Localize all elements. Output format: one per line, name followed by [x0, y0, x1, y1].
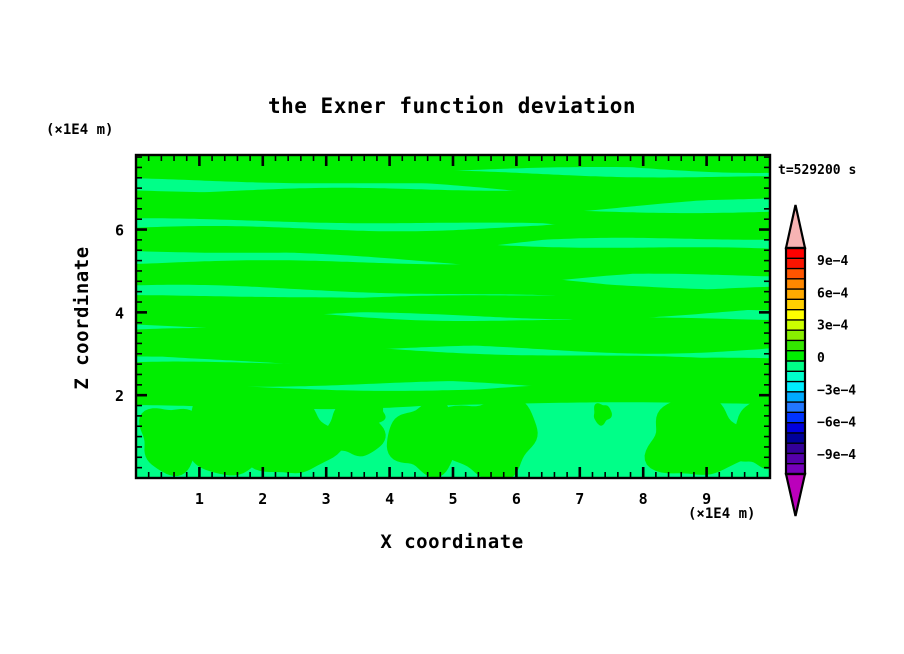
colorbar-band [786, 310, 805, 321]
colorbar-tick-label: 6e−4 [817, 286, 848, 301]
colorbar-band [786, 453, 805, 464]
x-tick-label: 4 [385, 490, 394, 508]
timestamp-label: t=529200 s [778, 163, 856, 178]
plot-area [136, 146, 791, 483]
colorbar-band [786, 330, 805, 341]
y-tick-label: 4 [115, 304, 124, 322]
x-tick-label: 1 [195, 490, 204, 508]
colorbar-band [786, 340, 805, 351]
colorbar-tick-label: 3e−4 [817, 319, 848, 334]
x-tick-label: 8 [639, 490, 648, 508]
colorbar-band [786, 433, 805, 444]
field-contour-bands [136, 146, 791, 483]
colorbar-band [786, 289, 805, 300]
x-tick-label: 2 [258, 490, 267, 508]
colorbar-band [786, 371, 805, 382]
colorbar-band [786, 443, 805, 454]
colorbar-band [786, 258, 805, 269]
x-tick-label: 7 [575, 490, 584, 508]
colorbar-bands [786, 248, 805, 475]
colorbar-band [786, 361, 805, 372]
colorbar-tick-label: 0 [817, 351, 825, 366]
x-tick-label: 5 [448, 490, 457, 508]
colorbar-band [786, 392, 805, 403]
x-axis-unit-label: (×1E4 m) [688, 506, 755, 522]
x-tick-label: 3 [322, 490, 331, 508]
y-axis-title: Z coordinate [71, 246, 93, 389]
colorbar-tick-label: 9e−4 [817, 254, 848, 269]
colorbar-band [786, 423, 805, 434]
colorbar-band [786, 299, 805, 310]
contour-plot-figure: the Exner function deviation (×1E4 m) t=… [0, 0, 904, 654]
colorbar-band [786, 402, 805, 413]
y-tick-label: 6 [115, 222, 124, 240]
colorbar-band [786, 269, 805, 280]
colorbar-tick-label: −9e−4 [817, 448, 856, 463]
colorbar-band [786, 412, 805, 423]
page-title: the Exner function deviation [268, 94, 636, 118]
colorbar-band [786, 320, 805, 331]
colorbar-band [786, 382, 805, 393]
colorbar-band [786, 248, 805, 259]
x-axis-title: X coordinate [380, 531, 523, 553]
colorbar-band [786, 279, 805, 290]
colorbar-tick-label: −3e−4 [817, 383, 856, 398]
y-axis-unit-label: (×1E4 m) [46, 122, 113, 138]
y-tick-label: 2 [115, 387, 124, 405]
colorbar-band [786, 351, 805, 362]
x-tick-label: 6 [512, 490, 521, 508]
colorbar-tick-label: −6e−4 [817, 416, 856, 431]
